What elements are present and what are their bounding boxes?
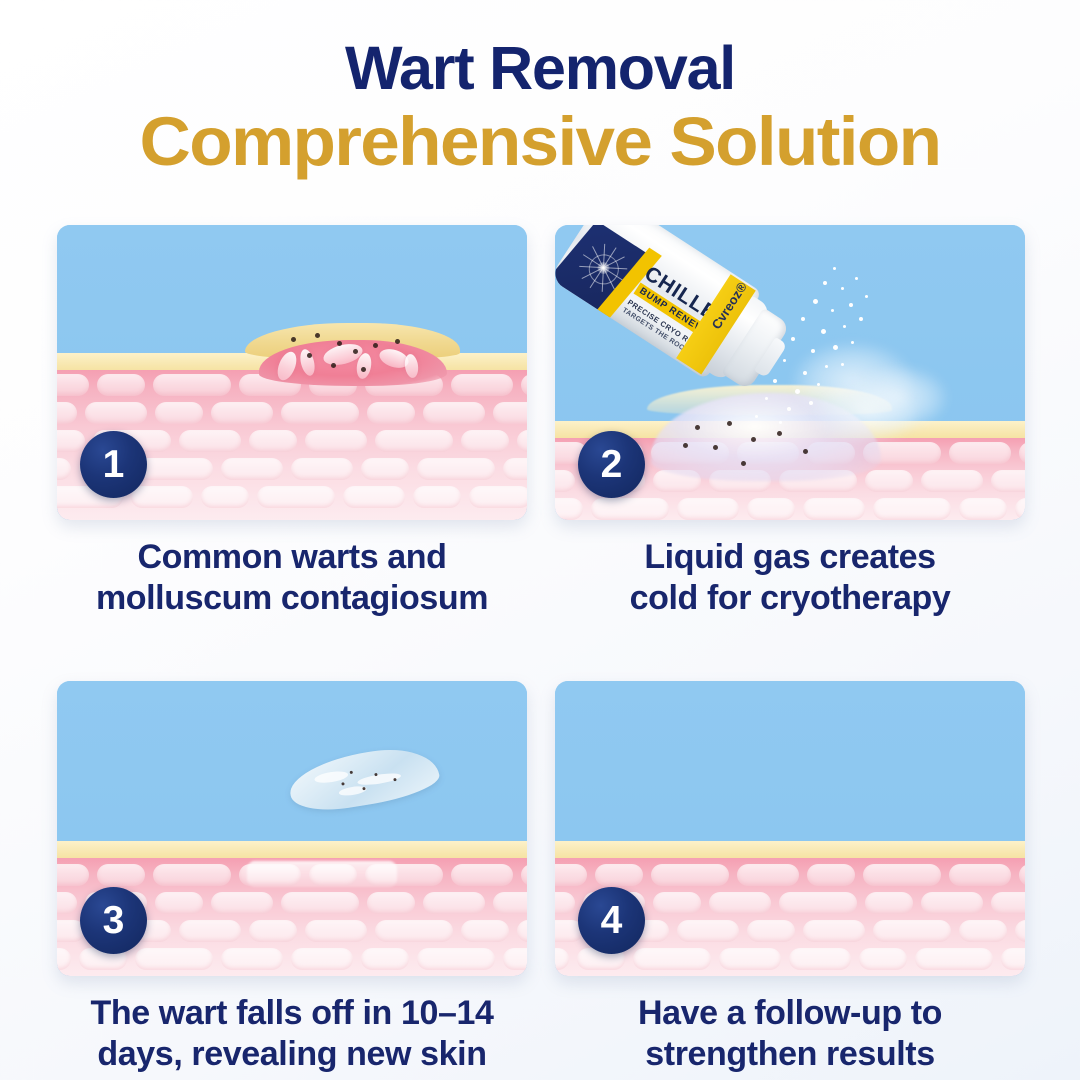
step-caption-1-line1: Common warts and: [57, 537, 527, 578]
step-caption-2-line1: Liquid gas creates: [555, 537, 1025, 578]
step-illustration-2: CHILLERASE BUMP RENEWAL SPRAY PRECISE CR…: [555, 225, 1025, 520]
step-number-2: 2: [601, 445, 623, 484]
title-line-primary: Wart Removal: [0, 34, 1080, 102]
step-card-3: 3 The wart falls off in 10–14 days, reve…: [57, 681, 527, 1075]
vapor-cloud-icon: [813, 385, 917, 443]
step-caption-4-line1: Have a follow-up to: [555, 993, 1025, 1034]
step-caption-3-line1: The wart falls off in 10–14: [57, 993, 527, 1034]
step-caption-4-line2: strengthen results: [555, 1034, 1025, 1075]
step-caption-2: Liquid gas creates cold for cryotherapy: [555, 537, 1025, 619]
title-line-secondary: Comprehensive Solution: [0, 102, 1080, 182]
epidermis-layer-icon: [57, 841, 527, 858]
wart-lesion-icon: [245, 323, 460, 385]
step-badge-3: 3: [80, 887, 147, 954]
step-card-2: CHILLERASE BUMP RENEWAL SPRAY PRECISE CR…: [555, 225, 1025, 619]
step-caption-3: The wart falls off in 10–14 days, reveal…: [57, 993, 527, 1075]
step-caption-2-line2: cold for cryotherapy: [555, 578, 1025, 619]
step-number-3: 3: [103, 901, 125, 940]
step-caption-3-line2: days, revealing new skin: [57, 1034, 527, 1075]
step-caption-1-line2: molluscum contagiosum: [57, 578, 527, 619]
step-caption-1: Common warts and molluscum contagiosum: [57, 537, 527, 619]
step-number-1: 1: [103, 445, 125, 484]
step-badge-1: 1: [80, 431, 147, 498]
steps-grid: 1 Common warts and molluscum contagiosum: [57, 225, 1025, 1075]
step-illustration-3: 3: [57, 681, 527, 976]
step-card-1: 1 Common warts and molluscum contagiosum: [57, 225, 527, 619]
step-badge-4: 4: [578, 887, 645, 954]
step-caption-4: Have a follow-up to strengthen results: [555, 993, 1025, 1075]
step-number-4: 4: [601, 901, 623, 940]
step-illustration-1: 1: [57, 225, 527, 520]
epidermis-layer-icon: [555, 841, 1025, 858]
step-badge-2: 2: [578, 431, 645, 498]
step-card-4: 4 Have a follow-up to strengthen results: [555, 681, 1025, 1075]
page-title: Wart Removal Comprehensive Solution: [0, 34, 1080, 182]
infographic-poster: Wart Removal Comprehensive Solution: [0, 0, 1080, 1080]
step-illustration-4: 4: [555, 681, 1025, 976]
